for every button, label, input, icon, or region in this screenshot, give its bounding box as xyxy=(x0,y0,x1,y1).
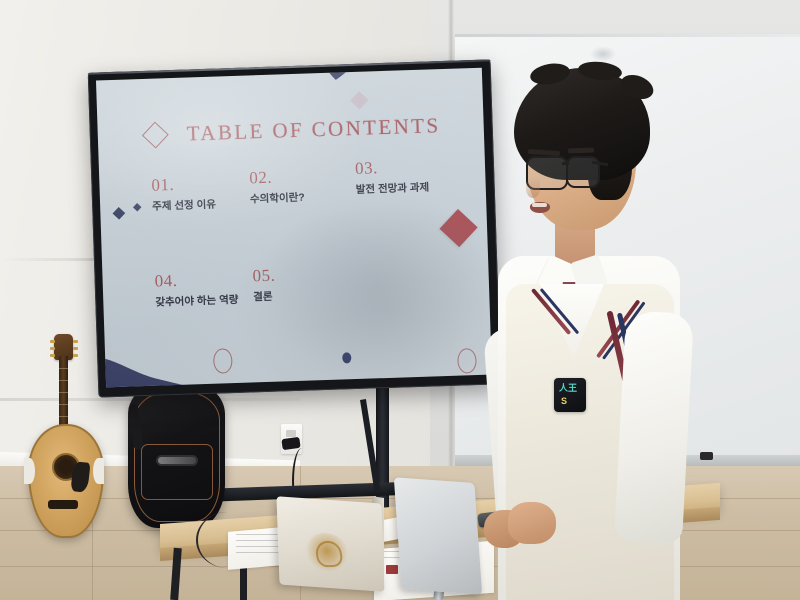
toc-item-02[interactable]: 02. 수의학이란? xyxy=(249,167,305,207)
guitar-fret xyxy=(59,404,68,405)
toc-number: 02. xyxy=(249,167,304,189)
person-presenter: 人王 S xyxy=(470,60,700,600)
guitar-tuning-peg xyxy=(73,354,78,357)
slide-title: TABLE OF CONTENTS xyxy=(186,113,440,146)
toc-item-05[interactable]: 05. 결론 xyxy=(252,266,276,305)
toc-label: 주제 선정 이유 xyxy=(152,197,216,214)
toc-number: 01. xyxy=(151,174,215,196)
diamond-icon xyxy=(350,91,368,109)
hand-right xyxy=(508,502,556,544)
circle-outline-icon xyxy=(213,348,233,374)
guitar-fret xyxy=(59,368,68,369)
television[interactable]: TABLE OF CONTENTS 01. 주제 선정 이유 02. 수의학이란… xyxy=(88,59,502,397)
toc-row: 01. 주제 선정 이유 02. 수의학이란? 03. 발전 전망과 과제 xyxy=(125,163,483,257)
tv-screen[interactable]: TABLE OF CONTENTS 01. 주제 선정 이유 02. 수의학이란… xyxy=(96,68,492,388)
guitar-fret xyxy=(59,392,68,393)
guitar-waist-left xyxy=(24,458,35,484)
toc-number: 03. xyxy=(355,157,429,179)
school-badge-glyph-bottom: S xyxy=(561,397,567,406)
guitar-fret xyxy=(59,416,68,417)
toc-number: 05. xyxy=(252,266,275,287)
cable xyxy=(196,512,258,568)
toc-label: 결론 xyxy=(253,289,276,305)
whiteboard-clip xyxy=(700,452,713,460)
dot-icon xyxy=(342,352,351,363)
guitar-tuning-peg xyxy=(50,340,55,343)
toc-number: 04. xyxy=(154,269,238,292)
tablet[interactable] xyxy=(394,477,482,594)
wall-outlet-socket xyxy=(286,430,296,437)
teeth xyxy=(532,203,547,207)
guitar-tuning-peg xyxy=(50,347,55,350)
diamond-bullet-icon xyxy=(133,203,141,211)
guitar-tuning-peg xyxy=(73,347,78,350)
guitar-fret xyxy=(59,380,68,381)
school-badge-glyph-top: 人王 xyxy=(559,384,577,393)
nose xyxy=(526,178,540,198)
toc-label: 갖추어야 하는 역량 xyxy=(155,292,239,310)
guitar-bridge xyxy=(48,500,78,509)
guitar-tuning-peg xyxy=(73,340,78,343)
guitar-tuning-peg xyxy=(50,354,55,357)
screenshot-root: TABLE OF CONTENTS 01. 주제 선정 이유 02. 수의학이란… xyxy=(0,0,800,600)
school-badge: 人王 S xyxy=(554,378,586,412)
whiteboard-top-edge xyxy=(455,34,800,37)
guitar-waist-right xyxy=(93,458,104,484)
toc-row: 04. 갖추어야 하는 역량 05. 결론 xyxy=(128,259,486,353)
toc-item-03[interactable]: 03. 발전 전망과 과제 xyxy=(355,157,430,197)
guitar-body xyxy=(28,424,104,538)
slide-title-row: TABLE OF CONTENTS xyxy=(145,113,440,148)
toc-item-01[interactable]: 01. 주제 선정 이유 xyxy=(151,174,216,214)
table-of-contents: 01. 주제 선정 이유 02. 수의학이란? 03. 발전 전망과 과제 04… xyxy=(125,163,486,353)
eyebrow-right xyxy=(568,148,594,154)
shirt-sleeve-right xyxy=(614,310,694,543)
gig-bag-logo-text xyxy=(158,457,196,464)
toc-label: 발전 전망과 과제 xyxy=(355,180,429,197)
gig-bag-pocket xyxy=(141,444,213,500)
toc-label: 수의학이란? xyxy=(250,190,305,207)
diamond-icon xyxy=(113,207,126,220)
document-color-swatch xyxy=(386,565,398,574)
eyeglasses-bridge xyxy=(562,162,569,165)
diamond-outline-icon xyxy=(142,122,169,149)
toc-item-04[interactable]: 04. 갖추어야 하는 역량 xyxy=(154,269,238,310)
